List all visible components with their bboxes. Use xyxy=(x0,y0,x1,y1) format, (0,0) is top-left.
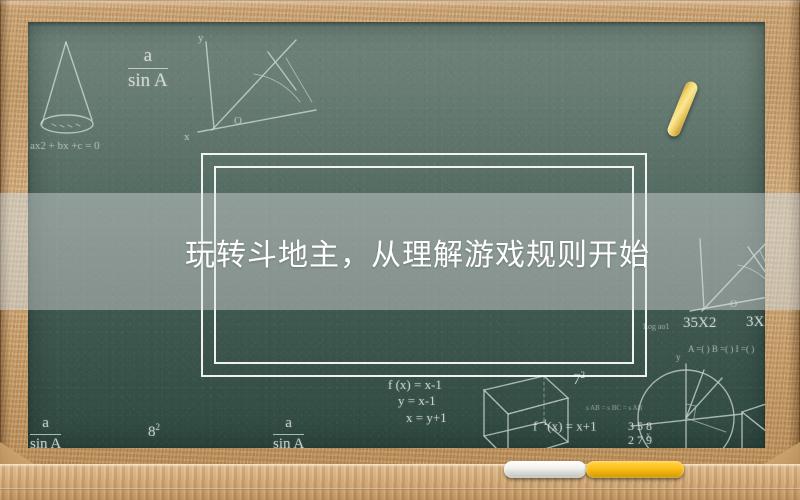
function-line-3: x = y+1 xyxy=(388,410,447,426)
function-line-1: f (x) = x-1 xyxy=(388,377,447,393)
fraction2-denominator: sin A xyxy=(30,437,61,448)
page-title: 玩转斗地主，从理解游戏规则开始 xyxy=(0,193,800,310)
fraction3-denominator: sin A xyxy=(273,437,304,448)
yellow-chalk-stick-icon xyxy=(586,461,684,478)
function-lines: f (x) = x-1 y = x-1 x = y+1 xyxy=(388,377,447,426)
axis-label-y-1: y xyxy=(198,32,204,44)
inverse-fn-rest: (x) = x+1 xyxy=(547,418,596,433)
cone-drawing xyxy=(34,36,124,146)
fraction-a-over-sinA-3: a sin A xyxy=(273,416,304,448)
cube-drawing-right xyxy=(728,380,765,448)
multiplication-3x2: 3X2 xyxy=(746,314,765,331)
axis-label-y-2: y xyxy=(676,352,681,362)
inverse-function: f -1(x) = x+1 xyxy=(533,418,597,434)
function-line-2: y = x-1 xyxy=(388,393,447,409)
fraction2-bar xyxy=(30,434,61,435)
frame-top-highlight xyxy=(0,0,800,8)
chalkboard-banner: a sin A y x O ax2 + bx +c = 0 f (x) = x-… xyxy=(0,0,800,500)
fraction-numerator: a xyxy=(128,46,168,66)
angle-diagram-left: y x O xyxy=(168,32,318,144)
fraction-a-over-sinA-1: a sin A xyxy=(128,46,168,92)
multiplication-35x2: 35X2 xyxy=(683,315,716,332)
inverse-fn-symbol: f xyxy=(533,418,541,433)
angle-label-1: O xyxy=(234,115,242,127)
fraction3-numerator: a xyxy=(273,416,304,432)
fraction-bar xyxy=(128,68,168,69)
fraction-denominator: sin A xyxy=(128,71,168,91)
quadratic-equation: ax2 + bx +c = 0 xyxy=(30,140,100,152)
ledge-lip xyxy=(0,488,800,490)
white-chalk-stick-icon xyxy=(504,461,586,478)
fraction-a-over-sinA-2: a sin A xyxy=(30,416,61,448)
fraction2-numerator: a xyxy=(30,416,61,432)
axis-label-x-2: x xyxy=(646,430,651,440)
eight-base: 8 xyxy=(148,424,156,440)
fraction3-bar xyxy=(273,434,304,435)
axis-label-x-1: x xyxy=(184,131,190,143)
eight-exponent: 2 xyxy=(156,422,161,432)
eight-squared: 82 xyxy=(148,422,160,441)
